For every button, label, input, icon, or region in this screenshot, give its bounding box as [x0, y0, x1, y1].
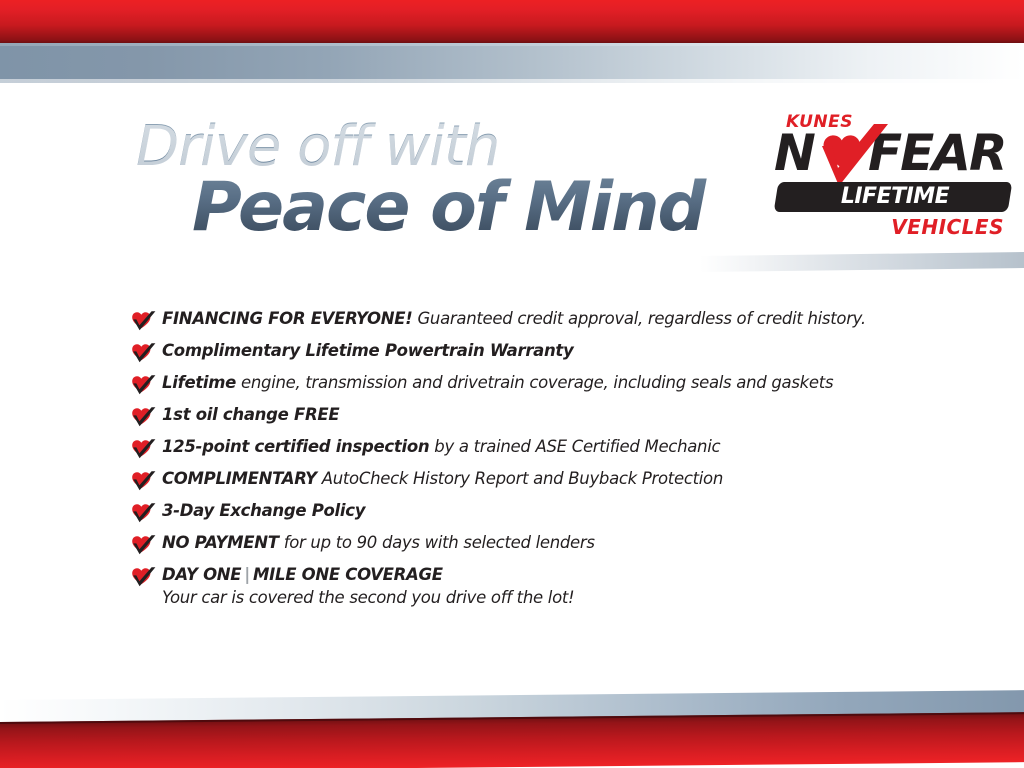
list-item-rest: AutoCheck History Report and Buyback Pro… — [317, 469, 723, 488]
list-item-separator: | — [241, 565, 253, 584]
header-divider — [700, 252, 1024, 272]
benefits-list: FINANCING FOR EVERYONE! Guaranteed credi… — [130, 308, 950, 616]
logo-nofear-wordmark: N FEAR — [772, 128, 1010, 184]
list-item-text: 3-Day Exchange Policy — [162, 500, 365, 522]
list-item-bold: DAY ONE — [162, 565, 241, 584]
headline-block: Drive off with Peace of Mind — [136, 118, 736, 244]
list-item-body: DAY ONE|MILE ONE COVERAGE Your car is co… — [162, 564, 574, 609]
heart-check-bullet-icon — [130, 502, 156, 524]
heart-check-bullet-icon — [130, 566, 156, 588]
heart-check-bullet-icon — [130, 374, 156, 396]
list-item: NO PAYMENT for up to 90 days with select… — [130, 532, 950, 564]
list-item-bold: 125-point certified inspection — [162, 437, 429, 456]
heart-check-bullet-icon — [130, 534, 156, 556]
list-item-bold: FINANCING FOR EVERYONE! — [162, 309, 413, 328]
list-item-rest: Guaranteed credit approval, regardless o… — [413, 309, 866, 328]
list-item-rest: by a trained ASE Certified Mechanic — [429, 437, 720, 456]
list-item-text: 125-point certified inspection by a trai… — [162, 436, 720, 458]
list-item-text: DAY ONE|MILE ONE COVERAGE — [162, 564, 574, 586]
heart-check-bullet-icon — [130, 438, 156, 460]
headline-line-2: Peace of Mind — [192, 172, 736, 244]
list-item: 1st oil change FREE — [130, 404, 950, 436]
list-item-rest: engine, transmission and drivetrain cove… — [236, 373, 833, 392]
list-item-bold: 3-Day Exchange Policy — [162, 501, 365, 520]
heart-check-bullet-icon — [130, 310, 156, 332]
list-item-subtext: Your car is covered the second you drive… — [162, 587, 574, 609]
list-item-text: NO PAYMENT for up to 90 days with select… — [162, 532, 595, 554]
heart-check-bullet-icon — [130, 406, 156, 428]
list-item-bold: NO PAYMENT — [162, 533, 279, 552]
list-item-text: COMPLIMENTARY AutoCheck History Report a… — [162, 468, 723, 490]
logo-banner-text: LIFETIME CERTIFIED — [782, 183, 1008, 211]
list-item-bold: Lifetime — [162, 373, 236, 392]
list-item-bold: 1st oil change FREE — [162, 405, 339, 424]
list-item-text: FINANCING FOR EVERYONE! Guaranteed credi… — [162, 308, 866, 330]
list-item: Lifetime engine, transmission and drivet… — [130, 372, 950, 404]
logo-word-vehicles: VEHICLES — [891, 215, 1004, 239]
bottom-red-band — [0, 712, 1024, 768]
list-item: FINANCING FOR EVERYONE! Guaranteed credi… — [130, 308, 950, 340]
list-item: Complimentary Lifetime Powertrain Warran… — [130, 340, 950, 372]
list-item-bold-2: MILE ONE COVERAGE — [253, 565, 443, 584]
list-item-text: 1st oil change FREE — [162, 404, 339, 426]
list-item-bold: Complimentary Lifetime Powertrain Warran… — [162, 341, 573, 360]
heart-check-bullet-icon — [130, 342, 156, 364]
list-item-bold: COMPLIMENTARY — [162, 469, 317, 488]
kunes-no-fear-logo: KUNES N FEAR LIFETIME CERTIFIED VEHICLES — [772, 112, 1010, 244]
list-item-text: Lifetime engine, transmission and drivet… — [162, 372, 833, 394]
list-item-text: Complimentary Lifetime Powertrain Warran… — [162, 340, 573, 362]
top-red-band — [0, 0, 1024, 43]
list-item: 3-Day Exchange Policy — [130, 500, 950, 532]
heart-check-bullet-icon — [130, 470, 156, 492]
list-item-rest: for up to 90 days with selected lenders — [279, 533, 595, 552]
list-item: COMPLIMENTARY AutoCheck History Report a… — [130, 468, 950, 500]
advertisement-page: Drive off with Peace of Mind KUNES N FEA… — [0, 0, 1024, 768]
top-gray-band — [0, 43, 1024, 83]
list-item: DAY ONE|MILE ONE COVERAGE Your car is co… — [130, 564, 950, 616]
list-item: 125-point certified inspection by a trai… — [130, 436, 950, 468]
